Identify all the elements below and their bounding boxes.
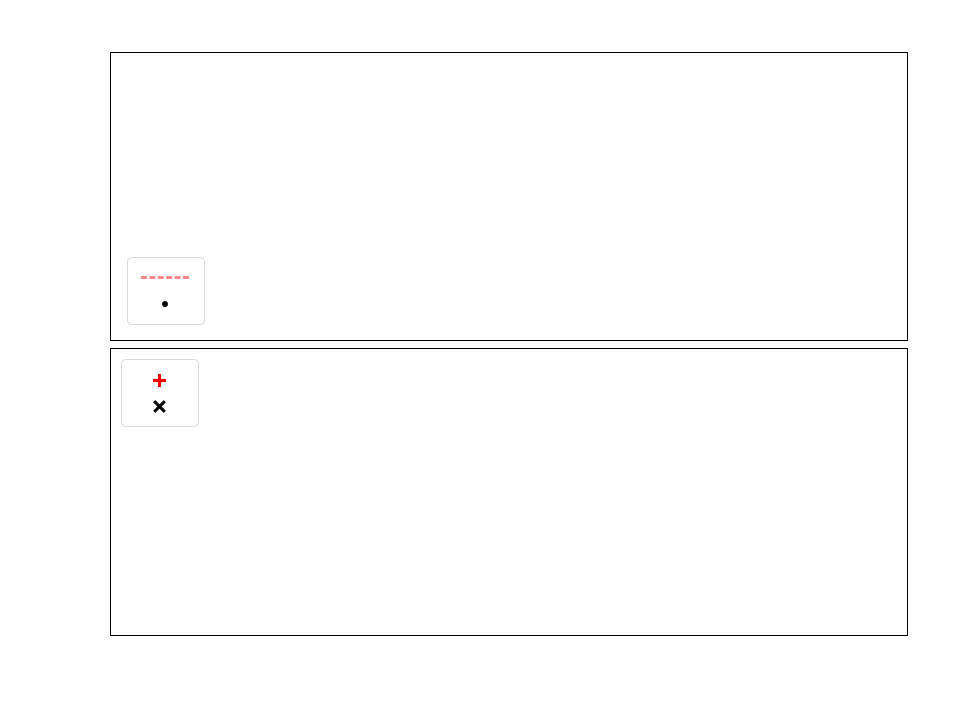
dot-marker-icon [137,293,193,315]
dashed-line-icon [137,267,193,289]
legend-item-threshold [137,265,193,291]
cross-marker-icon [131,395,187,417]
bottom-plot-axes [110,348,908,636]
legend-item-measurements [137,291,193,317]
legend-item-matched-stars [131,367,187,393]
plus-marker-icon [131,369,187,391]
top-plot-axes [110,52,908,341]
bottom-plot-legend [121,359,199,427]
figure-canvas [0,0,960,720]
top-plot-legend [127,257,205,325]
legend-item-predicted-stars [131,393,187,419]
